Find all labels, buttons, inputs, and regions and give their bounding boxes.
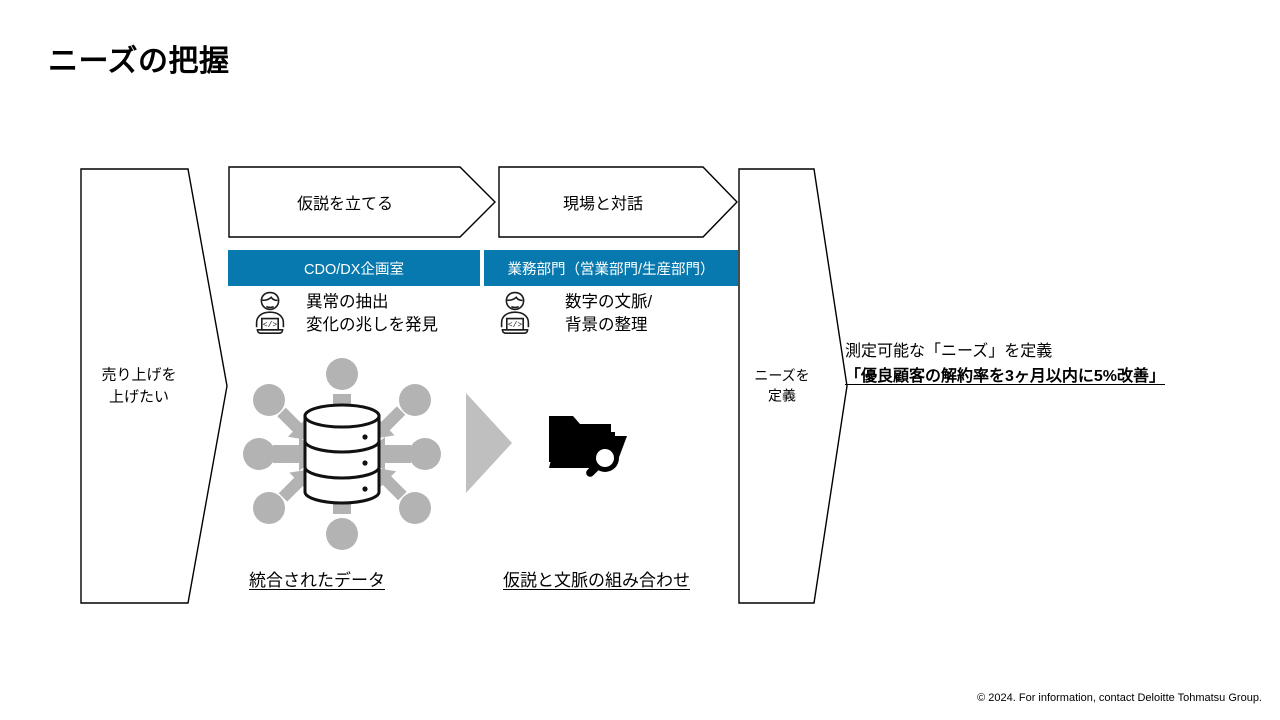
flow-start-chevron: 売り上げを 上げたい [80,168,228,604]
flow-end-chevron-label: ニーズを 定義 [738,366,848,407]
page-title: ニーズの把握 [48,44,230,80]
owner-bar-business-unit: 業務部門（営業部門/生産部門） [484,250,738,286]
folder-with-magnifier-icon [547,408,629,484]
svg-text:</>: </> [263,321,278,330]
footer-copyright: © 2024. For information, contact Deloitt… [977,692,1262,704]
owner-bar-cdo: CDO/DX企画室 [228,250,480,286]
step-chevron-dialogue-label: 現場と対話 [498,166,738,238]
triangle-right-icon [466,393,512,493]
conclusion-line-2: 「優良顧客の解約率を3ヶ月以内に5%改善」 [845,365,1165,390]
flow-end-chevron: ニーズを 定義 [738,168,848,604]
conclusion-line-1: 測定可能な「ニーズ」を定義 [845,340,1165,365]
person-with-laptop-icon: </> [495,290,535,336]
column-head-dialogue: </> 数字の文脈/ 背景の整理 [495,290,652,338]
flow-start-chevron-label: 売り上げを 上げたい [80,364,228,408]
step-chevron-dialogue[interactable]: 現場と対話 [498,166,738,238]
step-chevron-hypothesis[interactable]: 仮説を立てる [228,166,496,238]
svg-text:</>: </> [508,321,523,330]
conclusion-block: 測定可能な「ニーズ」を定義 「優良顧客の解約率を3ヶ月以内に5%改善」 [845,340,1165,390]
column-head-hypothesis: </> 異常の抽出 変化の兆しを発見 [250,290,438,338]
step-chevron-hypothesis-label: 仮説を立てる [228,166,496,238]
database-hub-icon [243,358,441,550]
column-head-dialogue-text: 数字の文脈/ 背景の整理 [545,290,652,338]
caption-hypothesis-context: 仮説と文脈の組み合わせ [503,566,690,591]
column-head-hypothesis-text: 異常の抽出 変化の兆しを発見 [300,290,438,338]
caption-integrated-data: 統合されたデータ [249,566,385,591]
person-with-laptop-icon: </> [250,290,290,336]
